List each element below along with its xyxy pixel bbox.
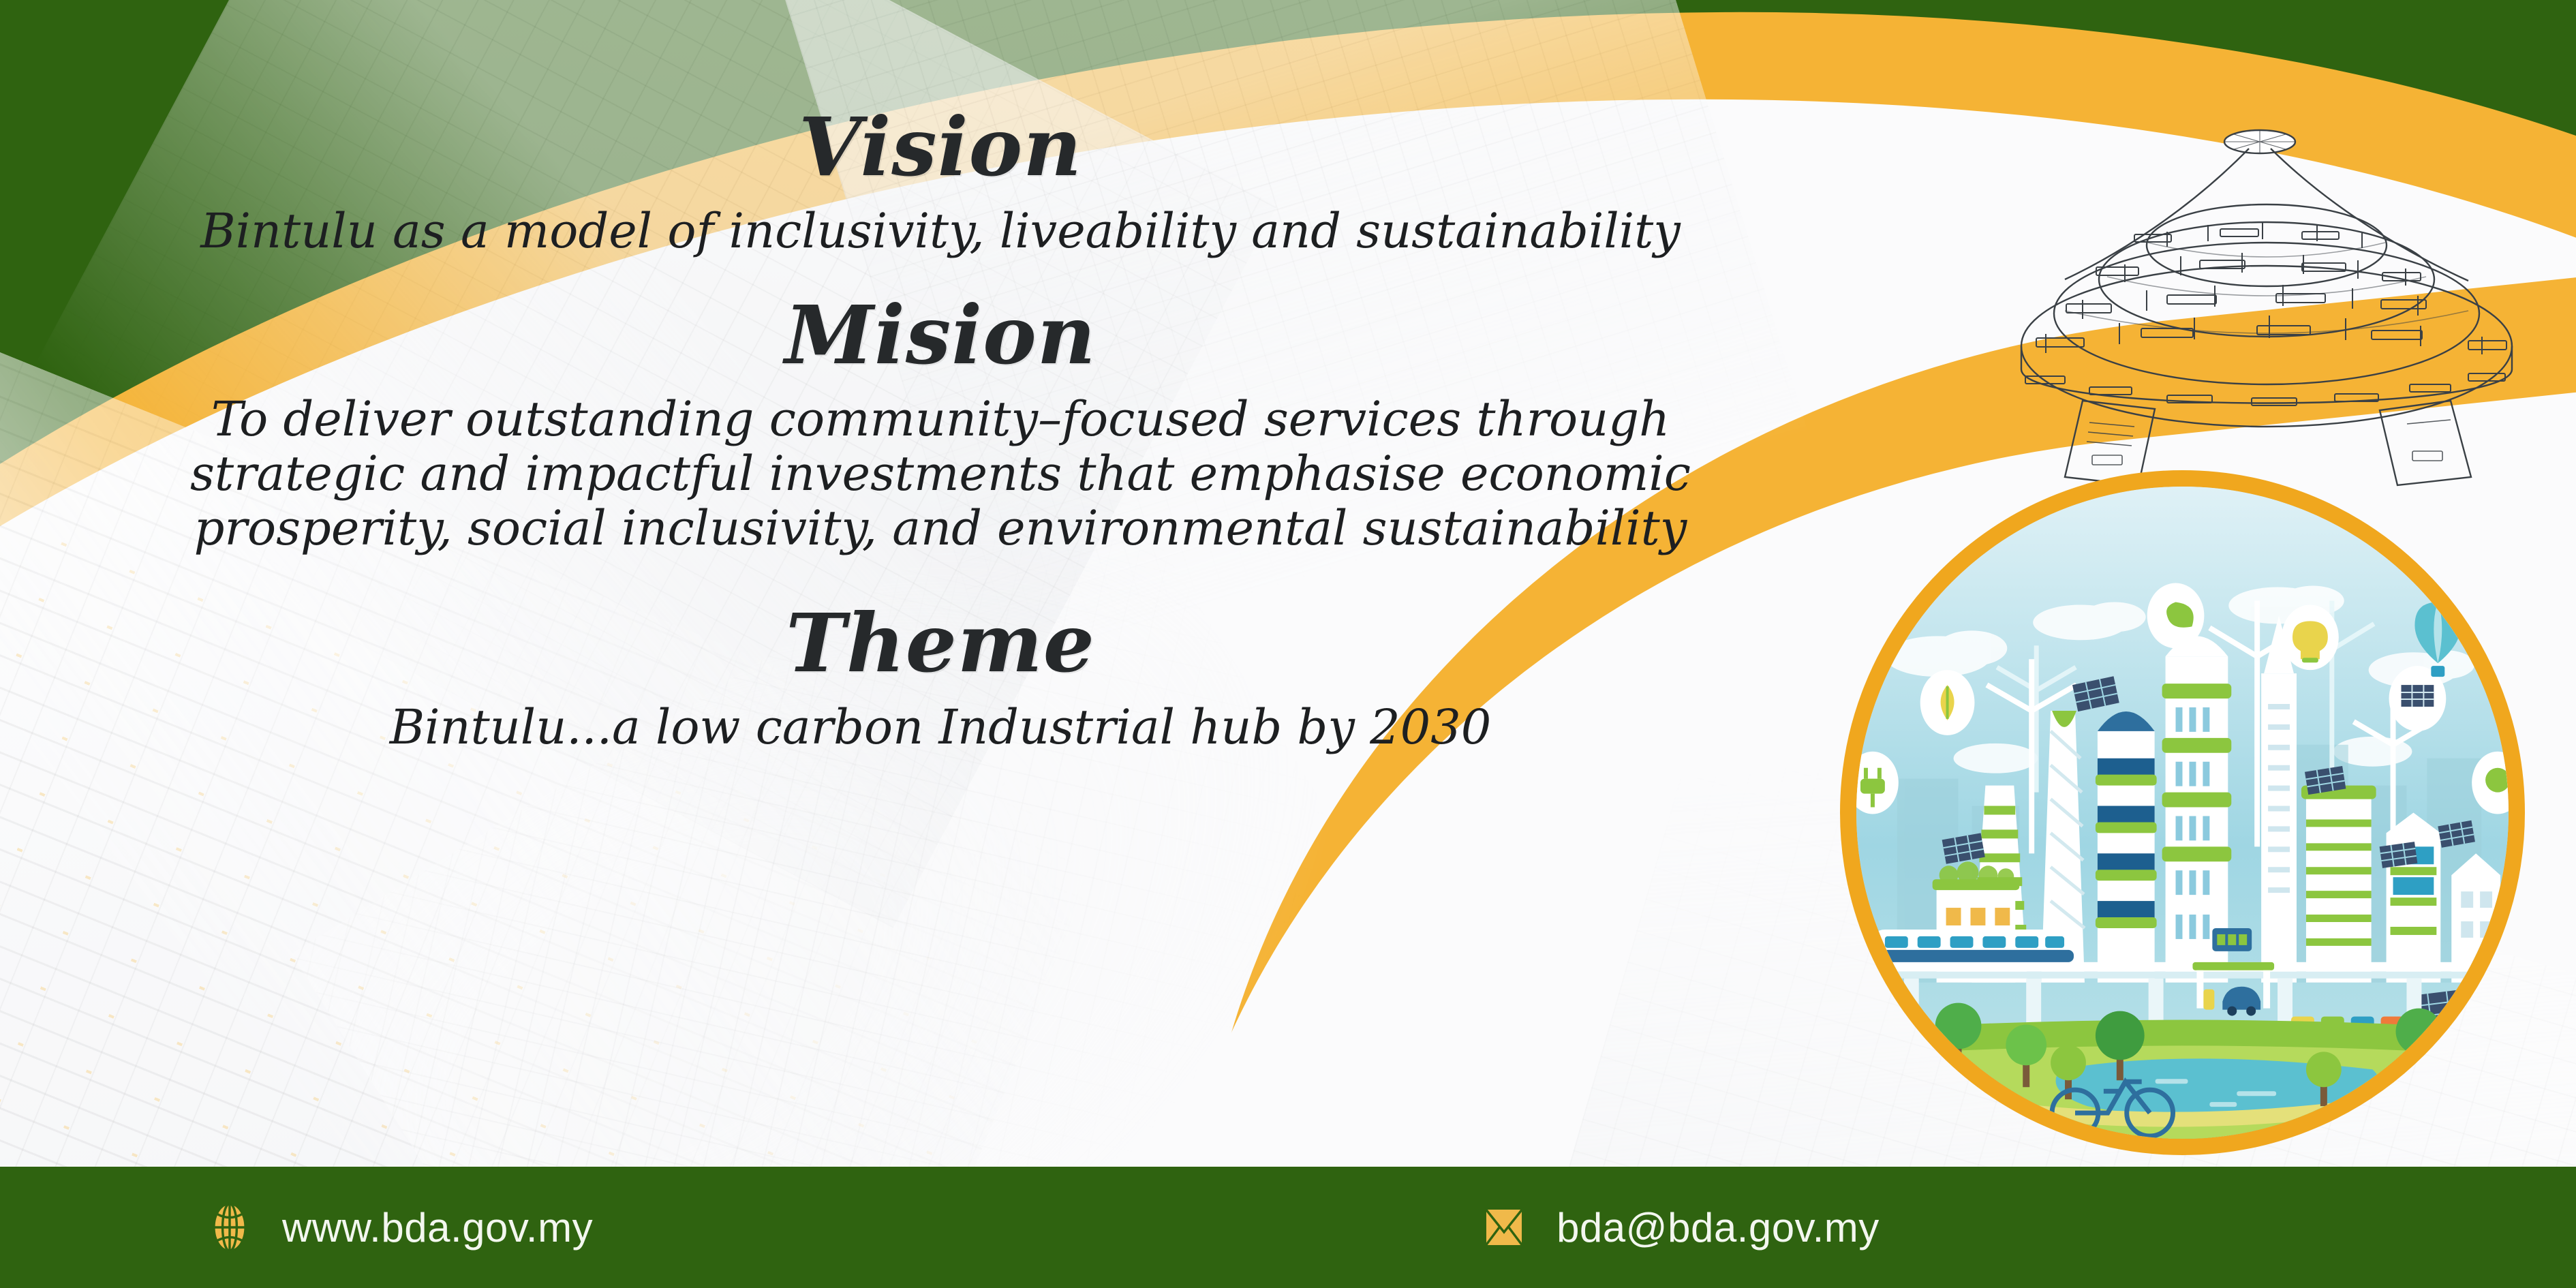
vision-block: Vision Bintulu as a model of inclusivity… [0, 102, 1881, 259]
vision-mission-theme-text: Vision Bintulu as a model of inclusivity… [0, 102, 1881, 754]
contact-footer: www.bda.gov.my bda@bda.gov.my [0, 1167, 2576, 1288]
mission-line-3: prosperity, social inclusivity, and envi… [0, 502, 1881, 556]
theme-heading: Theme [0, 598, 1881, 688]
theme-line-1: Bintulu...a low carbon Industrial hub by… [0, 701, 1881, 755]
email-label: bda@bda.gov.my [1557, 1204, 1880, 1251]
globe-icon [204, 1202, 255, 1253]
mission-line-1: To deliver outstanding community–focused… [0, 393, 1881, 447]
email-contact[interactable]: bda@bda.gov.my [1479, 1202, 1880, 1253]
mission-block: Mision To deliver outstanding community–… [0, 290, 1881, 556]
vision-line-1: Bintulu as a model of inclusivity, livea… [0, 204, 1881, 259]
mission-line-2: strategic and impactful investments that… [0, 447, 1881, 502]
eco-city-illustration [1840, 470, 2525, 1155]
envelope-icon [1479, 1202, 1529, 1253]
mission-heading: Mision [0, 290, 1881, 380]
website-contact[interactable]: www.bda.gov.my [204, 1202, 593, 1253]
website-label: www.bda.gov.my [282, 1204, 593, 1251]
conical-landmark-icon [1963, 109, 2562, 491]
bda-vision-mission-banner: Vision Bintulu as a model of inclusivity… [0, 0, 2576, 1288]
vision-heading: Vision [0, 102, 1881, 192]
theme-block: Theme Bintulu...a low carbon Industrial … [0, 598, 1881, 755]
